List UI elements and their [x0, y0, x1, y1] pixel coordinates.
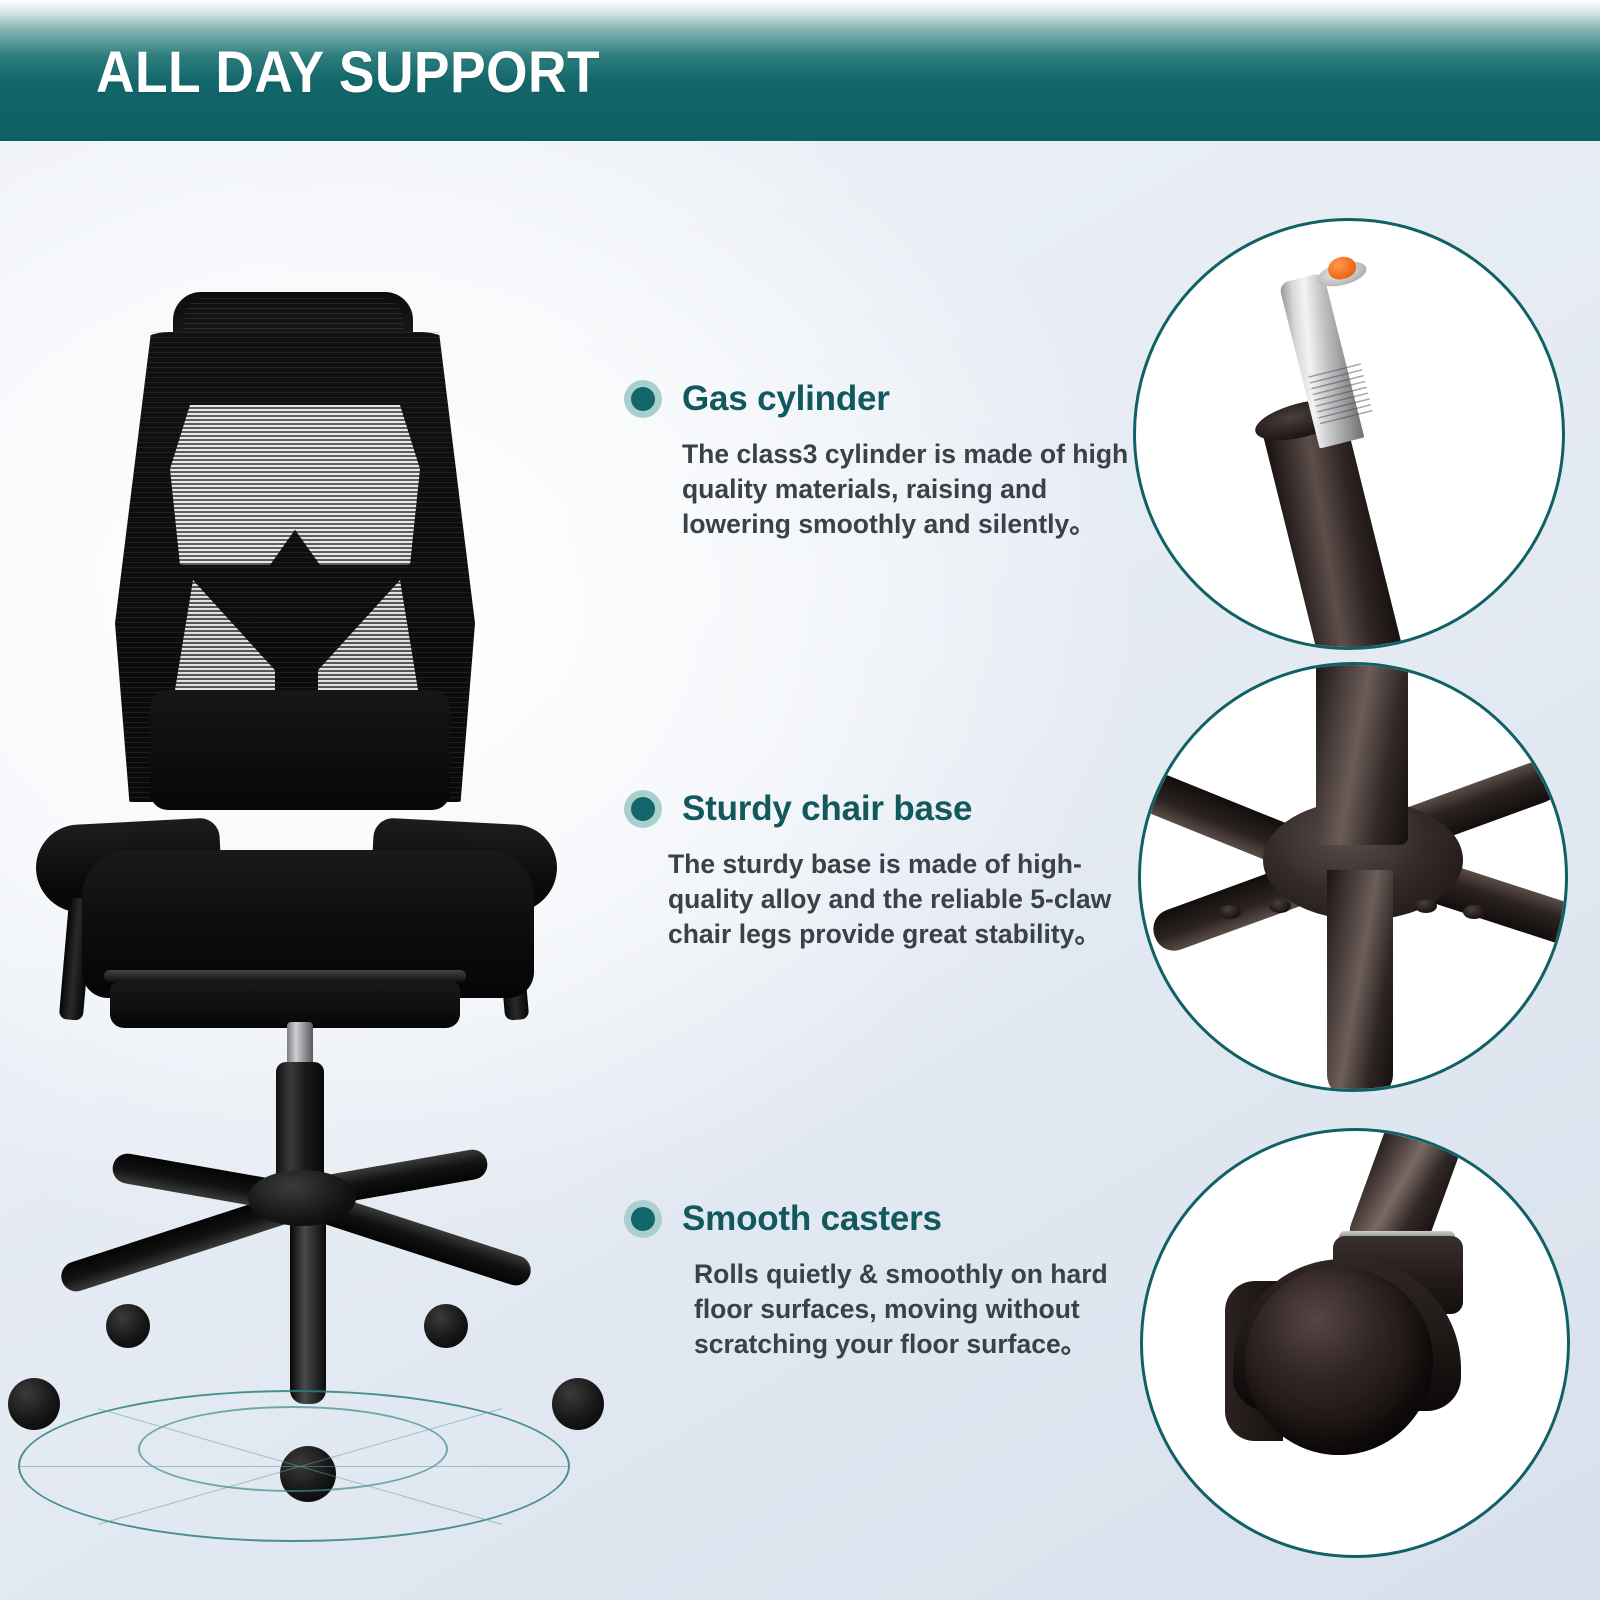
detail-circle-chair-base: [1138, 662, 1568, 1092]
feature-item-smooth-casters: Smooth casters Rolls quietly & smoothly …: [624, 1195, 1144, 1362]
base-hub: [248, 1170, 356, 1226]
page-title: ALL DAY SUPPORT: [96, 44, 600, 102]
feature-heading-row: Smooth casters: [624, 1195, 1144, 1243]
base-center-column: [1316, 662, 1408, 845]
chair-base-photo: [1141, 665, 1565, 1089]
feature-description: Rolls quietly & smoothly on hard floor s…: [694, 1257, 1154, 1362]
cylinder-spec-label: [1308, 363, 1373, 428]
gas-cylinder-photo: [1136, 221, 1562, 647]
detail-circle-gas-cylinder: [1133, 218, 1565, 650]
caster-wheel-face: [1245, 1267, 1433, 1455]
feature-title: Gas cylinder: [682, 379, 890, 419]
retractable-footrest: [110, 982, 460, 1028]
caster-wheel: [8, 1378, 60, 1430]
feature-description: The class3 cylinder is made of high qual…: [682, 437, 1150, 542]
caster-wheel: [424, 1304, 468, 1348]
base-front-leg: [1327, 870, 1393, 1092]
feature-heading-row: Sturdy chair base: [624, 785, 1144, 833]
feature-list: Gas cylinder The class3 cylinder is made…: [624, 150, 1154, 1600]
base-screw: [1219, 905, 1241, 919]
base-screw: [1269, 899, 1291, 913]
feature-title: Smooth casters: [682, 1199, 942, 1239]
bullet-dot-icon: [624, 380, 662, 418]
bullet-dot-icon: [624, 1200, 662, 1238]
detail-circle-caster: [1140, 1128, 1570, 1558]
feature-item-sturdy-chair-base: Sturdy chair base The sturdy base is mad…: [624, 785, 1144, 952]
caster-wheel: [552, 1378, 604, 1430]
footrest-bar: [104, 970, 466, 982]
caster-photo: [1143, 1131, 1567, 1555]
feature-heading-row: Gas cylinder: [624, 375, 1144, 423]
feature-item-gas-cylinder: Gas cylinder The class3 cylinder is made…: [624, 375, 1144, 542]
feature-description: The sturdy base is made of high-quality …: [668, 847, 1148, 952]
base-screw: [1463, 905, 1485, 919]
product-infographic: ALL DAY SUPPORT: [0, 0, 1600, 1600]
product-hero-image: [0, 150, 620, 1570]
swivel-ring-inner: [138, 1406, 448, 1492]
caster-wheel: [106, 1304, 150, 1348]
base-screw: [1415, 899, 1437, 913]
feature-title: Sturdy chair base: [682, 789, 972, 829]
lumbar-support: [150, 690, 450, 810]
header-banner: ALL DAY SUPPORT: [0, 0, 1600, 141]
bullet-dot-icon: [624, 790, 662, 828]
